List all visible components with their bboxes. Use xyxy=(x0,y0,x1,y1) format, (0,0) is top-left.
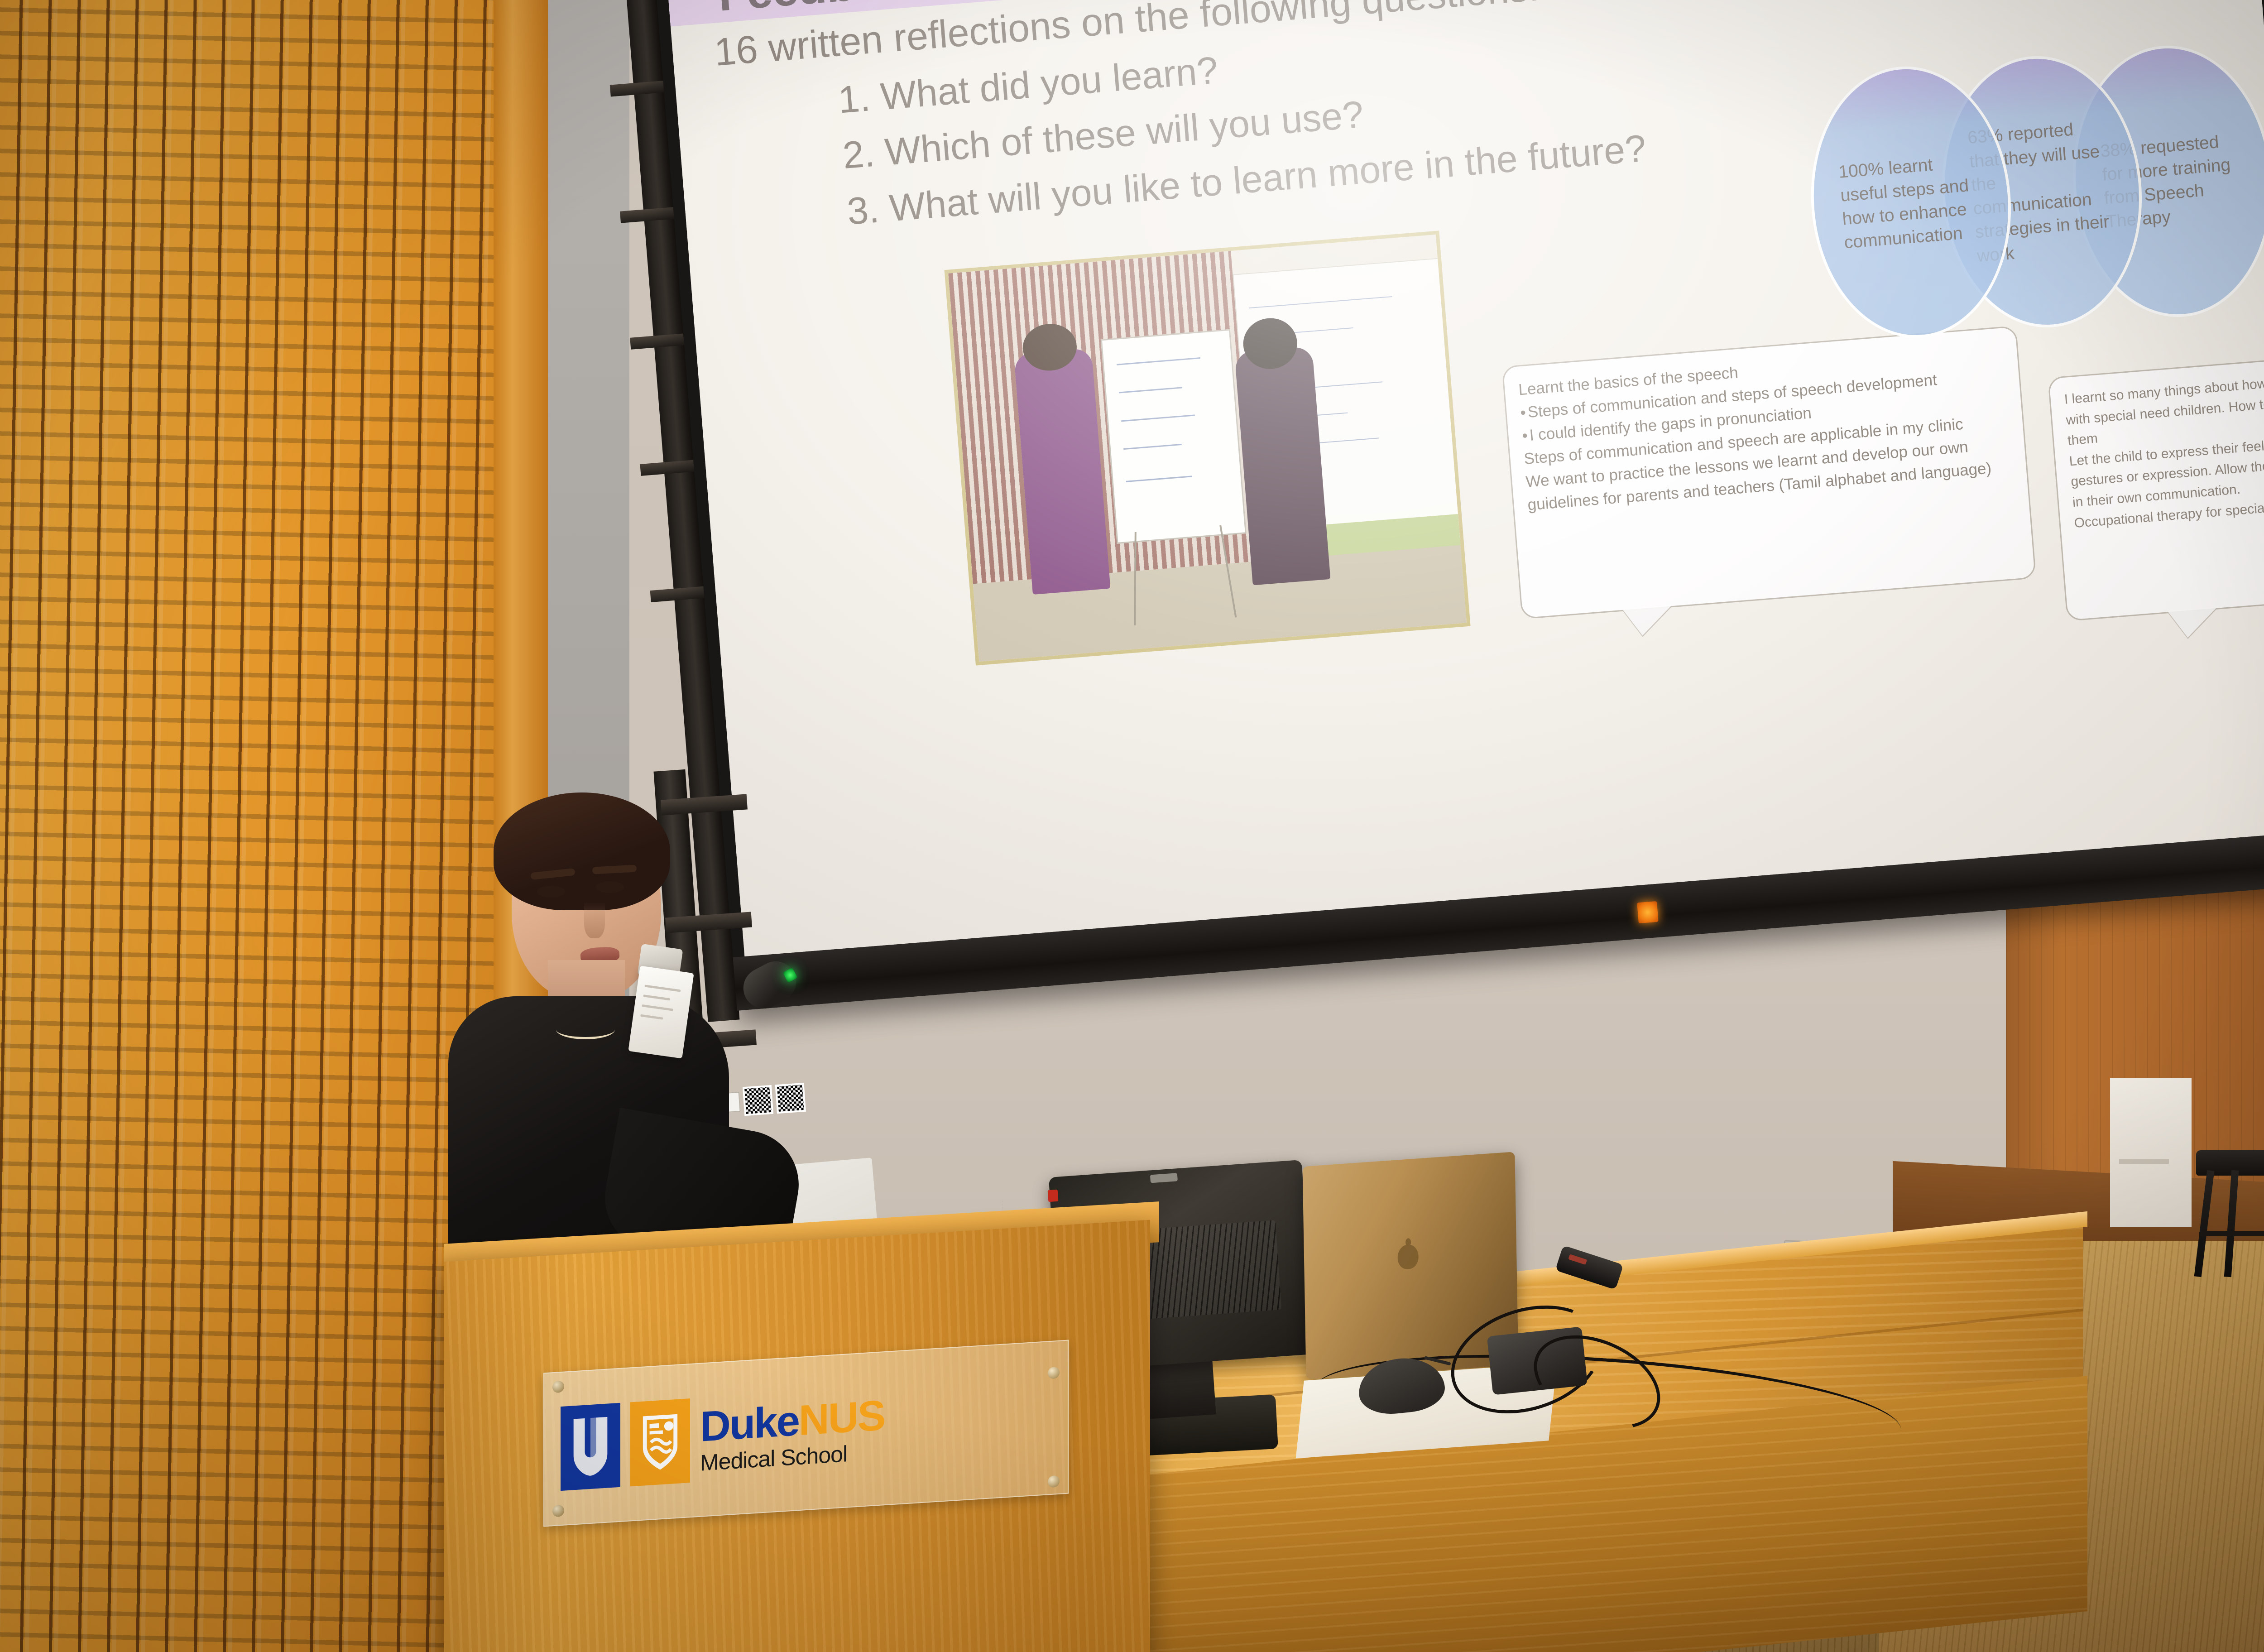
brand-nus: NUS xyxy=(799,1391,884,1444)
monitor-power-led-icon xyxy=(1048,1190,1059,1202)
stat-text: 100% learnt useful steps and how to enha… xyxy=(1838,149,1985,255)
quote-bubble-right: I learnt so many things about how to com… xyxy=(2048,351,2264,621)
power-led-icon xyxy=(1637,901,1659,923)
statistics-venn: 100% learnt useful steps and how to enha… xyxy=(1801,36,2264,364)
duke-shield-icon xyxy=(561,1403,620,1491)
screen-frame: Doctors Teachers xyxy=(643,0,2264,1011)
brand-wordmark: DukeNUS Medical School xyxy=(700,1394,884,1474)
brand-duke: Duke xyxy=(700,1397,799,1450)
screen-surface: Doctors Teachers xyxy=(656,0,2264,956)
presentation-slide: Doctors Teachers xyxy=(656,0,2264,956)
lecture-hall-photo: Doctors Teachers xyxy=(0,0,2264,1652)
apple-logo-icon xyxy=(1397,1244,1419,1270)
nus-crest-icon xyxy=(630,1398,690,1486)
bar-stool xyxy=(2196,1150,2264,1277)
projection-screen: Doctors Teachers xyxy=(643,0,2264,1011)
quote-bubble-left: Learnt the basics of the speech Steps of… xyxy=(1501,326,2036,619)
workshop-photo-trainers xyxy=(945,231,1471,665)
wall-art xyxy=(2110,1078,2192,1227)
